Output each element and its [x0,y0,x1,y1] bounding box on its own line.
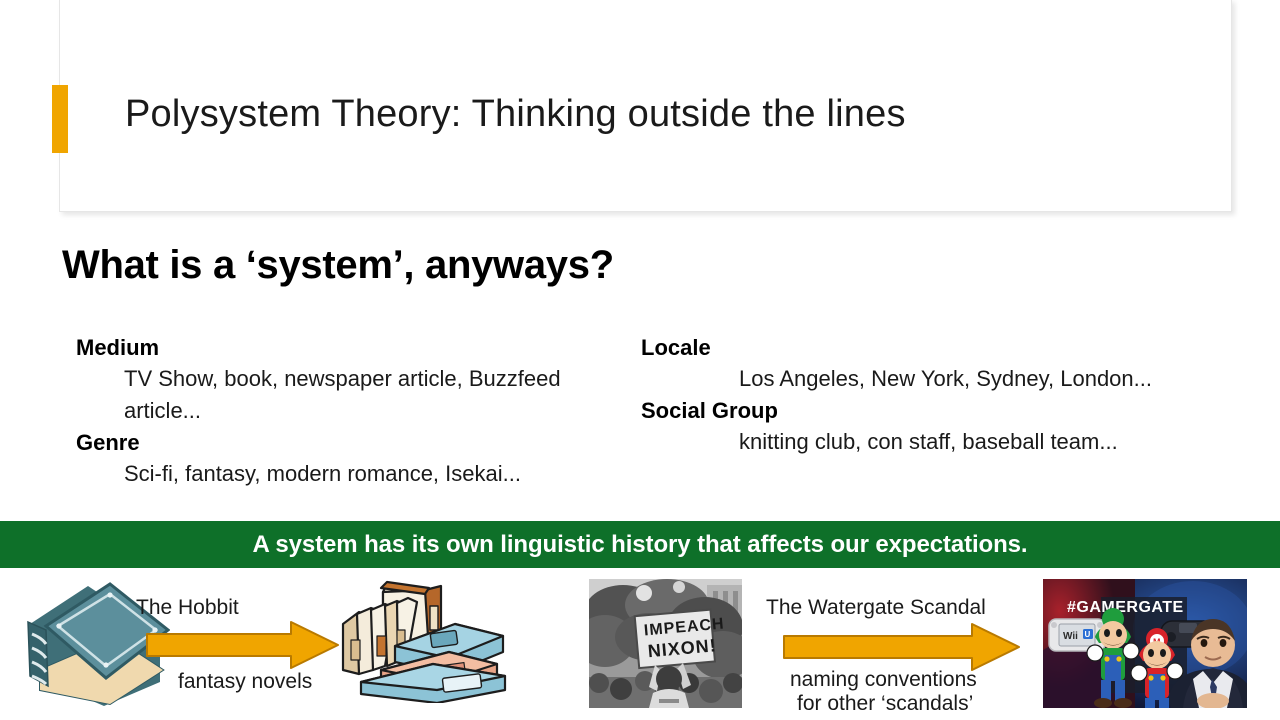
example-2-result-label-line2: for other ‘scandals’ [797,692,973,716]
takeaway-banner: A system has its own linguistic history … [0,521,1280,568]
right-arrow-icon [145,620,341,675]
title-accent-bar [52,85,68,153]
definition-social-group: knitting club, con staff, baseball team.… [641,426,1221,458]
svg-text:U: U [1085,630,1091,639]
definition-medium: TV Show, book, newspaper article, Buzzfe… [76,363,636,427]
gamergate-broadcast-photo: #GAMERGATE Wii U [1043,579,1247,708]
example-1-source-label: The Hobbit [136,596,239,620]
definition-locale: Los Angeles, New York, Sydney, London... [641,363,1221,395]
definition-column-right: Locale Los Angeles, New York, Sydney, Lo… [641,332,1221,458]
book-stack-icon [337,578,507,703]
example-2-result-label-line1: naming conventions [790,668,977,692]
definition-column-left: Medium TV Show, book, newspaper article,… [76,332,636,490]
term-genre: Genre [76,427,636,458]
term-locale: Locale [641,332,1221,363]
svg-text:#GAMERGATE: #GAMERGATE [1067,599,1184,616]
page-title: Polysystem Theory: Thinking outside the … [125,93,906,136]
example-1-result-label: fantasy novels [178,670,312,694]
section-heading: What is a ‘system’, anyways? [62,243,614,288]
takeaway-banner-text: A system has its own linguistic history … [253,531,1028,559]
term-medium: Medium [76,332,636,363]
definition-genre: Sci-fi, fantasy, modern romance, Isekai.… [76,458,636,490]
example-2-source-label: The Watergate Scandal [766,596,986,620]
svg-text:Wii: Wii [1063,631,1078,642]
impeach-nixon-protest-photo: IMPEACH NIXON! [589,579,742,708]
term-social-group: Social Group [641,395,1221,426]
